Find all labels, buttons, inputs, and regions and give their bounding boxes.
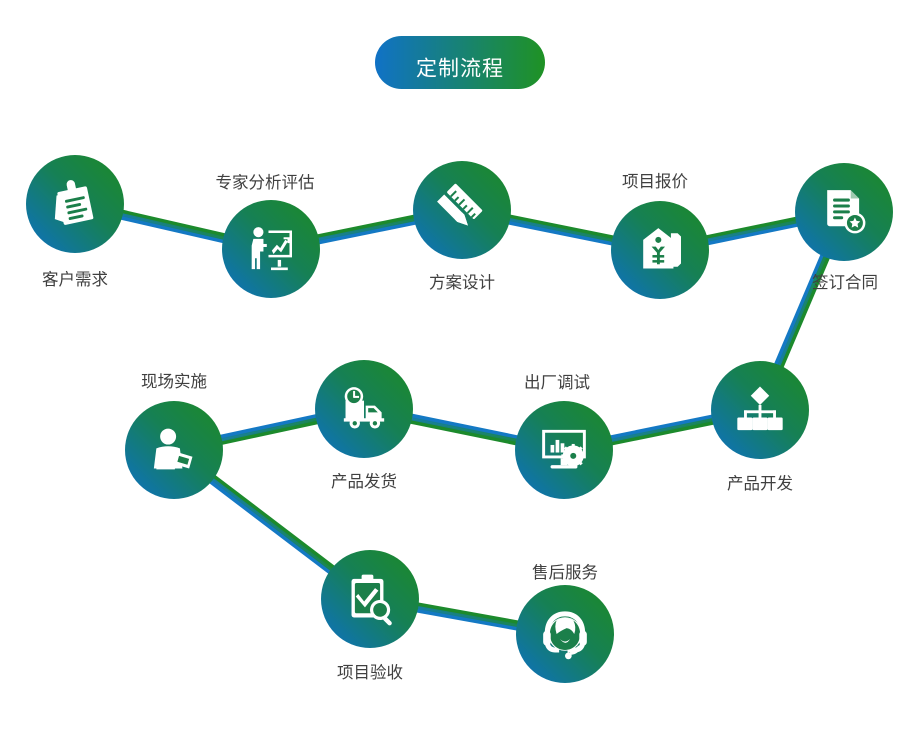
flow-canvas: 客户需求专家分析评估方案设计项目报价签订合同产品开发出厂调试产品发货现场实施项目… bbox=[0, 0, 920, 740]
node-label: 产品发货 bbox=[331, 472, 397, 491]
node-label: 签订合同 bbox=[812, 273, 878, 292]
process-flow-diagram: 客户需求专家分析评估方案设计项目报价签订合同产品开发出厂调试产品发货现场实施项目… bbox=[0, 0, 920, 740]
node-circle[interactable] bbox=[413, 161, 511, 259]
node-label: 出厂调试 bbox=[524, 373, 590, 392]
node-label: 专家分析评估 bbox=[216, 173, 315, 192]
flow-node-n11[interactable]: 售后服务 bbox=[516, 563, 614, 683]
flow-node-n2[interactable]: 专家分析评估 bbox=[216, 173, 321, 298]
node-label: 客户需求 bbox=[42, 270, 108, 289]
node-circle[interactable] bbox=[315, 360, 413, 458]
node-label: 产品开发 bbox=[727, 474, 793, 493]
flow-node-n6[interactable]: 产品开发 bbox=[711, 361, 809, 493]
node-label: 售后服务 bbox=[532, 563, 598, 582]
node-label: 方案设计 bbox=[429, 273, 495, 292]
flow-node-n7[interactable]: 出厂调试 bbox=[515, 373, 613, 499]
title-badge: 定制流程 bbox=[375, 36, 545, 89]
flow-node-n3[interactable]: 方案设计 bbox=[413, 161, 511, 292]
node-layer: 客户需求专家分析评估方案设计项目报价签订合同产品开发出厂调试产品发货现场实施项目… bbox=[26, 155, 893, 683]
page-title: 定制流程 bbox=[416, 58, 504, 81]
flow-node-n4[interactable]: 项目报价 bbox=[611, 172, 709, 299]
node-circle[interactable] bbox=[222, 200, 320, 298]
flow-node-n9[interactable]: 现场实施 bbox=[125, 372, 223, 499]
flow-node-n10[interactable]: 项目验收 bbox=[321, 550, 419, 682]
node-label: 项目报价 bbox=[622, 172, 688, 191]
flow-node-n5[interactable]: 签订合同 bbox=[795, 163, 893, 292]
flow-node-n1[interactable]: 客户需求 bbox=[26, 155, 124, 289]
node-label: 现场实施 bbox=[141, 372, 207, 391]
node-label: 项目验收 bbox=[337, 663, 403, 682]
flow-node-n8[interactable]: 产品发货 bbox=[315, 360, 413, 491]
